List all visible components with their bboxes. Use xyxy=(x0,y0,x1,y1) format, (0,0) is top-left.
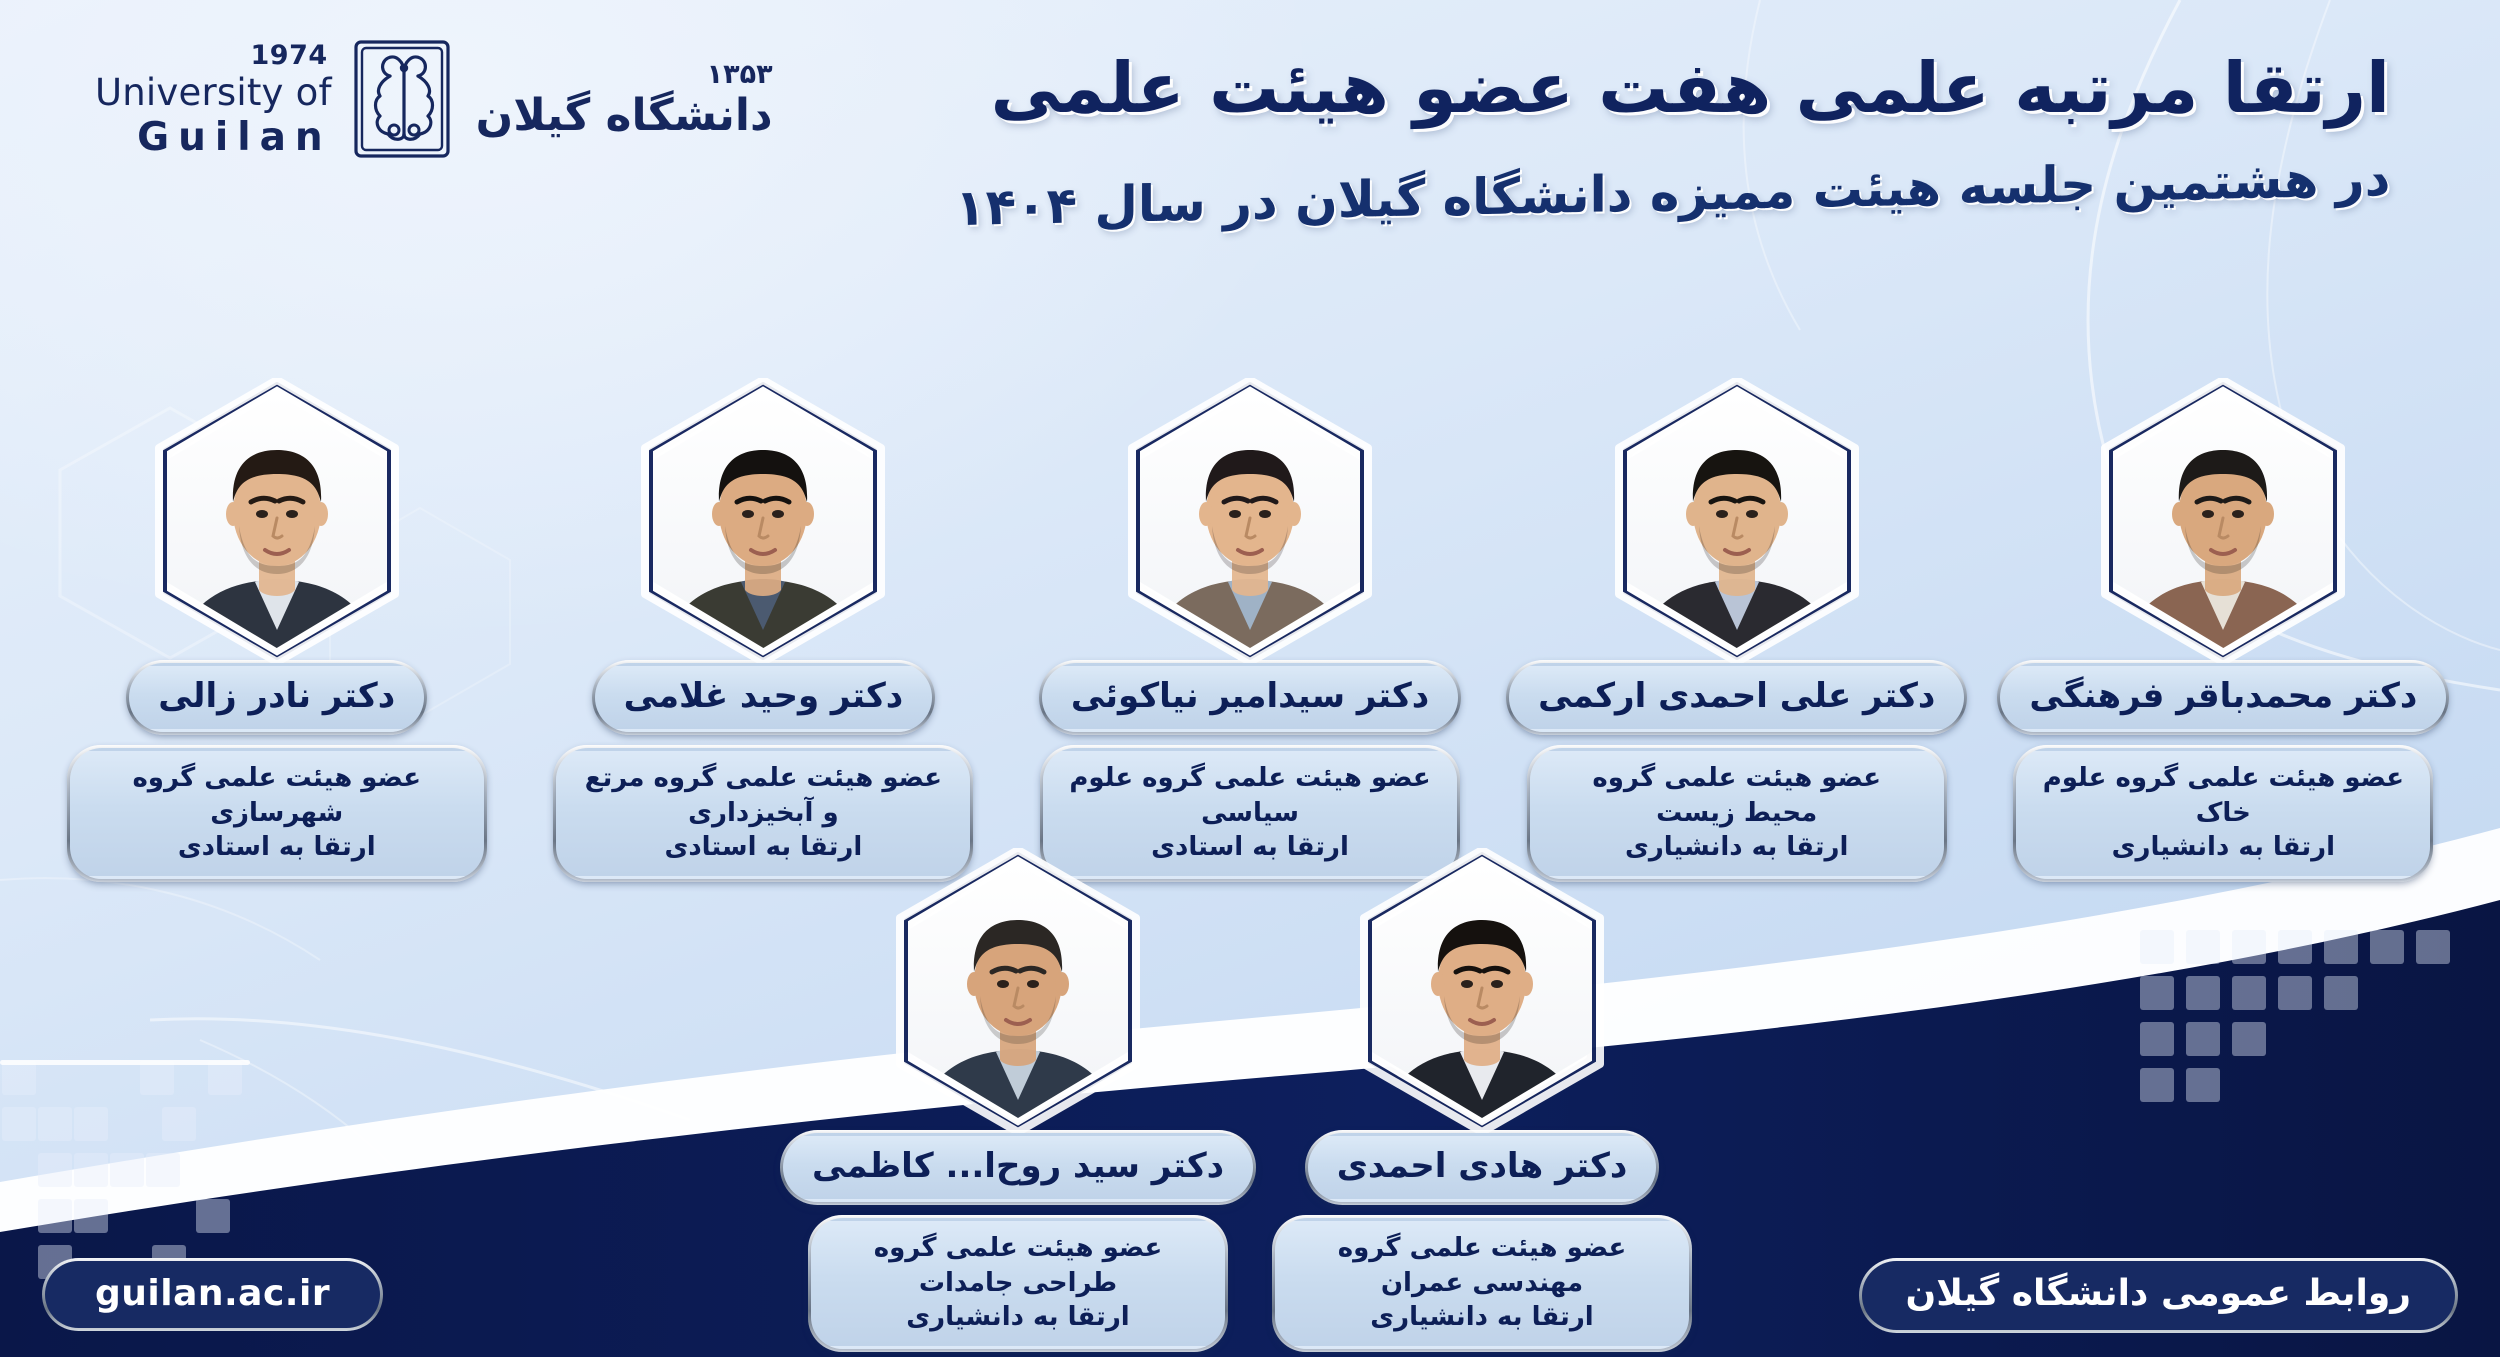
logo-year-fa: ۱۳۵۳ xyxy=(707,61,773,88)
person-name: دکتر نادر زالی xyxy=(129,663,424,732)
person-card: دکتر نادر زالی عضو هیئت علمی گروه شهرساز… xyxy=(67,378,487,882)
person-promotion: ارتقا به دانشیاری xyxy=(1300,1300,1664,1334)
logo-english-text: 1974 University of Guilan xyxy=(95,42,332,157)
person-photo-hexagon xyxy=(1603,378,1871,664)
person-name: دکتر هادی احمدی xyxy=(1308,1133,1657,1202)
person-name: دکتر وحید غلامی xyxy=(595,663,933,732)
person-photo-hexagon xyxy=(1116,378,1384,664)
website-url[interactable]: guilan.ac.ir xyxy=(45,1261,380,1328)
person-department: عضو هیئت علمی گروه مهندسی عمران xyxy=(1300,1231,1664,1300)
university-logo: 1974 University of Guilan ۱۳۵۳ دانشگاه گ… xyxy=(95,38,773,160)
header-titles: ارتقا مرتبه علمی هفت عضو هیئت علمی در هش… xyxy=(955,46,2390,210)
person-name-pill: دکتر سید روح‌ا... کاظمی xyxy=(780,1130,1256,1205)
person-department: عضو هیئت علمی گروه مرتع و آبخیزداری xyxy=(581,761,945,830)
person-promotion: ارتقا به دانشیاری xyxy=(836,1300,1200,1334)
person-name-pill: دکتر محمدباقر فرهنگی xyxy=(1997,660,2449,735)
person-name-pill: دکتر علی احمدی ارکمی xyxy=(1506,660,1967,735)
person-name-pill: دکتر سیدامیر نیاکوئی xyxy=(1039,660,1461,735)
person-card: دکتر سید روح‌ا... کاظمی عضو هیئت علمی گر… xyxy=(808,848,1228,1352)
person-photo-hexagon xyxy=(2089,378,2357,664)
person-name-pill: دکتر هادی احمدی xyxy=(1305,1130,1660,1205)
guilan-emblem-icon xyxy=(350,38,458,160)
person-card: دکتر سیدامیر نیاکوئی عضو هیئت علمی گروه … xyxy=(1040,378,1460,882)
page-title: ارتقا مرتبه علمی هفت عضو هیئت علمی xyxy=(955,46,2390,131)
person-name: دکتر سید روح‌ا... کاظمی xyxy=(783,1133,1253,1202)
poster-canvas: 1974 University of Guilan ۱۳۵۳ دانشگاه گ… xyxy=(0,0,2500,1357)
person-name: دکتر علی احمدی ارکمی xyxy=(1509,663,1964,732)
person-name-pill: دکتر نادر زالی xyxy=(126,660,427,735)
person-card: دکتر علی احمدی ارکمی عضو هیئت علمی گروه … xyxy=(1527,378,1947,882)
person-name-pill: دکتر وحید غلامی xyxy=(592,660,936,735)
people-row-top: دکتر محمدباقر فرهنگی عضو هیئت علمی گروه … xyxy=(0,378,2500,882)
person-department: عضو هیئت علمی گروه شهرسازی xyxy=(95,761,459,830)
person-detail-pill: عضو هیئت علمی گروه طراحی جامدات ارتقا به… xyxy=(808,1215,1228,1352)
logo-name-en-line2: Guilan xyxy=(137,118,332,157)
public-relations-label: روابط عمومی دانشگاه گیلان xyxy=(1862,1261,2455,1330)
person-name: دکتر محمدباقر فرهنگی xyxy=(2000,663,2446,732)
person-card: دکتر وحید غلامی عضو هیئت علمی گروه مرتع … xyxy=(553,378,973,882)
person-department: عضو هیئت علمی گروه علوم خاک xyxy=(2041,761,2405,830)
logo-name-en-line1: University of xyxy=(95,74,332,111)
logo-name-fa: دانشگاه گیلان xyxy=(476,94,773,138)
person-department: عضو هیئت علمی گروه علوم سیاسی xyxy=(1068,761,1432,830)
person-department: عضو هیئت علمی گروه طراحی جامدات xyxy=(836,1231,1200,1300)
person-photo-hexagon xyxy=(1348,848,1616,1134)
public-relations-pill: روابط عمومی دانشگاه گیلان xyxy=(1859,1258,2458,1333)
person-photo-hexagon xyxy=(629,378,897,664)
website-pill[interactable]: guilan.ac.ir xyxy=(42,1258,383,1331)
person-card: دکتر هادی احمدی عضو هیئت علمی گروه مهندس… xyxy=(1272,848,1692,1352)
person-photo-hexagon xyxy=(143,378,411,664)
person-department: عضو هیئت علمی گروه محیط زیست xyxy=(1555,761,1919,830)
logo-persian-text: ۱۳۵۳ دانشگاه گیلان xyxy=(476,61,773,138)
person-name: دکتر سیدامیر نیاکوئی xyxy=(1042,663,1458,732)
logo-year-en: 1974 xyxy=(251,42,328,69)
page-subtitle: در هشتمین جلسه هیئت ممیزه دانشگاه گیلان … xyxy=(955,147,2390,240)
person-card: دکتر محمدباقر فرهنگی عضو هیئت علمی گروه … xyxy=(2013,378,2433,882)
person-photo-hexagon xyxy=(884,848,1152,1134)
person-detail-pill: عضو هیئت علمی گروه مهندسی عمران ارتقا به… xyxy=(1272,1215,1692,1352)
